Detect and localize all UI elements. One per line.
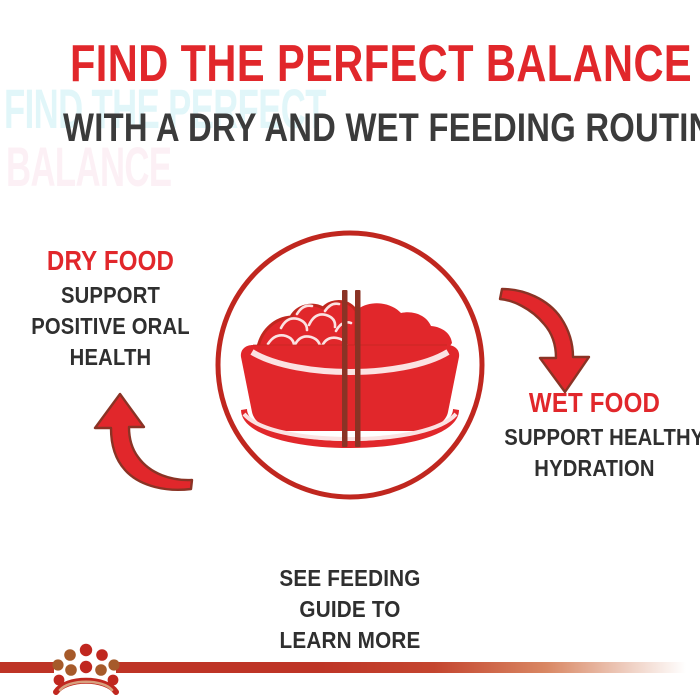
dry-food-body-line-1: SUPPORT bbox=[20, 280, 200, 311]
caption-line-1: SEE FEEDING bbox=[215, 563, 485, 594]
kibble-mound bbox=[258, 302, 356, 351]
crown-logo bbox=[46, 636, 126, 698]
dry-food-body-line-2: POSITIVE ORAL bbox=[20, 311, 200, 342]
bowl-body bbox=[241, 345, 459, 431]
pet-food-bowl-icon bbox=[241, 302, 459, 448]
feeding-guide-caption: SEE FEEDING GUIDE TO LEARN MORE bbox=[215, 563, 485, 656]
outline-circle bbox=[218, 233, 482, 497]
dry-food-title: DRY FOOD bbox=[22, 246, 198, 276]
wet-food-mound bbox=[358, 303, 452, 352]
bowl-divider bbox=[342, 290, 361, 447]
caption-line-3: LEARN MORE bbox=[215, 625, 485, 656]
wet-food-title: WET FOOD bbox=[506, 388, 682, 418]
page-title: FIND THE PERFECT BALANCE bbox=[70, 38, 630, 90]
curved-arrow-down-right-icon bbox=[500, 289, 589, 392]
bowl-base bbox=[241, 409, 459, 448]
dry-food-body-line-3: HEALTH bbox=[20, 342, 200, 373]
infographic-root: FIND THE PERFECT BALANCE FIND THE PERFEC… bbox=[0, 0, 700, 700]
bowl-base-line bbox=[244, 414, 456, 439]
wet-food-body: SUPPORT HEALTHY HYDRATION bbox=[504, 422, 684, 484]
dry-food-column: DRY FOOD SUPPORT POSITIVE ORAL HEALTH bbox=[8, 246, 213, 373]
wet-food-body-line-2: HYDRATION bbox=[504, 453, 684, 484]
dry-food-body: SUPPORT POSITIVE ORAL HEALTH bbox=[20, 280, 200, 373]
kibble-pebbles bbox=[268, 304, 351, 351]
wet-food-body-line-1: SUPPORT HEALTHY bbox=[504, 422, 684, 453]
curved-arrow-up-left-icon bbox=[95, 394, 192, 490]
page-subtitle: WITH A DRY AND WET FEEDING ROUTINE bbox=[63, 107, 637, 149]
bowl-rim-highlight bbox=[252, 352, 448, 372]
caption-line-2: GUIDE TO bbox=[215, 594, 485, 625]
wet-food-column: WET FOOD SUPPORT HEALTHY HYDRATION bbox=[492, 388, 697, 484]
